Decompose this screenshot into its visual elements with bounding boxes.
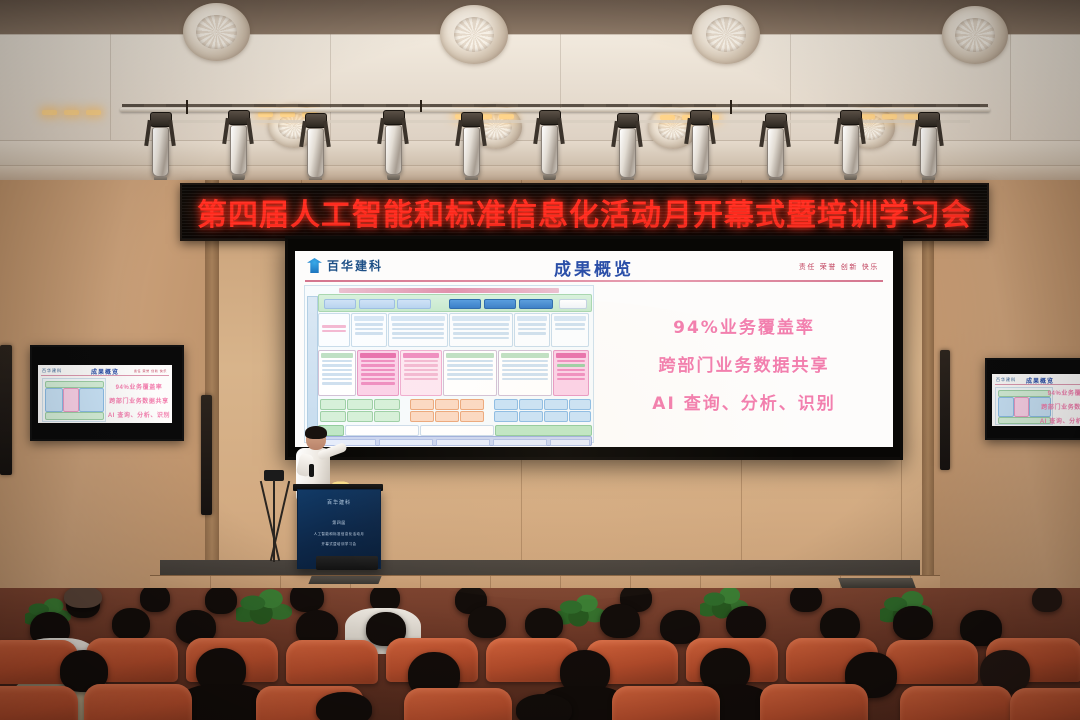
slide-highlights: 94%业务覆盖率 跨部门业务数据共享 AI 查询、分析、识别 bbox=[603, 293, 885, 433]
diagram-standard-bar bbox=[495, 425, 592, 436]
audience-head bbox=[64, 588, 102, 608]
audience-head bbox=[600, 604, 640, 638]
podium-line-2: 人工智能和标准信息化活动月 bbox=[314, 531, 365, 536]
slide-highlight-1: 94%业务覆盖率 bbox=[673, 313, 815, 338]
slide-highlight-2: 跨部门业务数据共享 bbox=[659, 351, 830, 376]
architecture-diagram bbox=[304, 285, 594, 443]
monitor-highlight-3: AI 查询、分析、识别 bbox=[1040, 416, 1080, 425]
audience-head bbox=[316, 692, 372, 720]
audience-head bbox=[468, 606, 506, 638]
audience-head bbox=[112, 608, 150, 640]
air-diffuser-icon bbox=[942, 6, 1008, 64]
diagram-component-row bbox=[318, 399, 590, 423]
stage-light bbox=[150, 112, 170, 184]
monitor-slide-right: 百华建科 成果概览 94%业务覆盖率 跨部门业务数据共享 AI 查询、分析、识别 bbox=[992, 374, 1080, 426]
side-monitor-right: 百华建科 成果概览 94%业务覆盖率 跨部门业务数据共享 AI 查询、分析、识别 bbox=[985, 358, 1080, 440]
seat bbox=[0, 686, 78, 720]
camera-tripod bbox=[255, 470, 295, 562]
wall-speaker bbox=[201, 395, 212, 515]
monitor-highlights: 94%业务覆盖率 跨部门业务数据共享 AI 查询、分析、识别 bbox=[1054, 388, 1080, 424]
air-diffuser-icon bbox=[183, 3, 250, 61]
audience-head bbox=[525, 608, 563, 640]
ceiling-seam bbox=[330, 34, 331, 140]
monitor-slide-left: 百华建科 成果概览 责任 荣誉 创新 快乐 94%业务覆盖率 跨部门业务数据共享… bbox=[38, 365, 172, 423]
power-cable bbox=[420, 100, 422, 112]
ceiling-seam bbox=[110, 34, 111, 140]
ceiling-seam bbox=[0, 34, 1080, 35]
diagram-standard-bar bbox=[345, 425, 419, 436]
monitor-slide-header: 百华建科 成果概览 bbox=[992, 375, 1080, 383]
diagram-application-row bbox=[318, 313, 590, 347]
wall-speaker bbox=[0, 345, 12, 475]
monitor-divider bbox=[41, 375, 169, 376]
diagram-top-band bbox=[318, 294, 592, 312]
ceiling-upper-shadow bbox=[0, 0, 1080, 34]
audience-head bbox=[205, 588, 237, 614]
audience-head bbox=[893, 606, 933, 640]
monitor-divider bbox=[995, 384, 1080, 385]
power-cable bbox=[186, 100, 188, 114]
stage-light bbox=[690, 110, 710, 182]
power-cable bbox=[730, 100, 732, 114]
stage-light bbox=[383, 110, 403, 182]
air-diffuser-icon bbox=[440, 5, 508, 64]
diagram-side-rail bbox=[307, 296, 318, 440]
slide-header: 百华建科 成果概览 责任 荣誉 创新 快乐 bbox=[295, 251, 893, 281]
wall-speaker bbox=[940, 350, 950, 470]
auditorium-photo: 第四届人工智能和标准信息化活动月开幕式暨培训学习会 百华建科 成果概览 责任 荣… bbox=[0, 0, 1080, 720]
monitor-highlight-2: 跨部门业务数据共享 bbox=[109, 396, 168, 405]
slide-highlight-3: AI 查询、分析、识别 bbox=[652, 389, 835, 414]
monitor-highlight-3: AI 查询、分析、识别 bbox=[108, 410, 170, 419]
diagram-standard-bar bbox=[420, 425, 494, 436]
seat bbox=[286, 640, 378, 684]
slide-divider bbox=[305, 280, 883, 282]
ceiling-downlight-group bbox=[860, 114, 919, 119]
diagram-service-row bbox=[318, 350, 590, 396]
ceiling-seam bbox=[790, 34, 791, 140]
potted-plant bbox=[556, 590, 606, 628]
seat bbox=[886, 640, 978, 684]
slide-slogan: 责任 荣誉 创新 快乐 bbox=[799, 262, 879, 272]
air-diffuser-icon bbox=[692, 5, 760, 64]
audience-head bbox=[790, 588, 822, 612]
audience-area bbox=[0, 588, 1080, 720]
monitor-highlight-1: 94%业务覆盖率 bbox=[1048, 388, 1080, 397]
diagram-caption-bar bbox=[339, 288, 559, 293]
audience-head bbox=[820, 608, 860, 642]
seat bbox=[760, 684, 868, 720]
monitor-highlight-1: 94%业务覆盖率 bbox=[116, 382, 163, 391]
audience-head bbox=[726, 606, 766, 640]
main-projection-screen: 百华建科 成果概览 责任 荣誉 创新 快乐 bbox=[285, 236, 903, 460]
stage-light bbox=[840, 110, 860, 182]
audience-head bbox=[140, 588, 170, 612]
monitor-slide-header: 百华建科 成果概览 责任 荣誉 创新 快乐 bbox=[38, 366, 172, 374]
diagram-infrastructure-row bbox=[318, 436, 592, 446]
led-banner: 第四届人工智能和标准信息化活动月开幕式暨培训学习会 bbox=[180, 183, 989, 241]
ceiling-seam bbox=[1010, 34, 1011, 140]
stage-light bbox=[617, 113, 637, 185]
audience-shoulders bbox=[180, 684, 266, 720]
potted-plant bbox=[236, 588, 292, 626]
audience-head bbox=[290, 588, 324, 612]
stage-light bbox=[305, 113, 325, 185]
audience-head bbox=[516, 694, 572, 720]
led-banner-text: 第四届人工智能和标准信息化活动月开幕式暨培训学习会 bbox=[182, 190, 987, 234]
seat bbox=[612, 686, 720, 720]
stage-light bbox=[765, 113, 785, 185]
podium-logo-text: 百华建科 bbox=[327, 499, 351, 506]
seat bbox=[84, 684, 192, 720]
ceiling-downlight-group bbox=[42, 110, 101, 115]
floor-monitor bbox=[316, 556, 378, 570]
seat bbox=[1010, 688, 1080, 720]
side-monitor-left: 百华建科 成果概览 责任 荣誉 创新 快乐 94%业务覆盖率 跨部门业务数据共享… bbox=[30, 345, 184, 441]
stage-light bbox=[918, 112, 938, 184]
monitor-slogan: 责任 荣誉 创新 快乐 bbox=[134, 369, 167, 373]
podium-line-3: 开幕式暨培训学习会 bbox=[321, 541, 356, 546]
monitor-diagram bbox=[42, 378, 106, 422]
seat bbox=[900, 686, 1012, 720]
stage-light bbox=[539, 110, 559, 182]
lighting-cable-run bbox=[122, 104, 988, 107]
monitor-highlights: 94%业务覆盖率 跨部门业务数据共享 AI 查询、分析、识别 bbox=[108, 380, 170, 420]
podium-line-1: 第四届 bbox=[332, 520, 346, 526]
stage-stairs-left bbox=[308, 576, 381, 584]
stage-light bbox=[461, 112, 481, 184]
monitor-highlight-2: 跨部门业务数据共享 bbox=[1041, 402, 1080, 411]
audience-head bbox=[1032, 588, 1062, 612]
presentation-slide: 百华建科 成果概览 责任 荣誉 创新 快乐 bbox=[295, 251, 893, 447]
seat bbox=[404, 688, 512, 720]
stage-stairs-right bbox=[838, 578, 916, 588]
stage-light bbox=[228, 110, 248, 182]
